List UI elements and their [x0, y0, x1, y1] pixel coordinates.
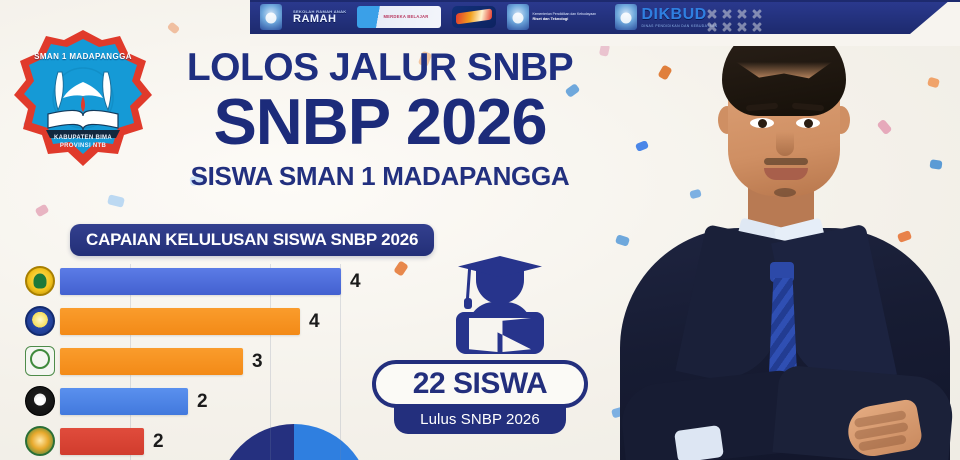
partner-logo-dikbud: DIKBUD DINAS PENDIDIKAN DAN KEBUDAYAAN — [615, 4, 717, 30]
university-crest-unram-icon — [20, 264, 60, 298]
headline-line-3: SISWA SMAN 1 MADAPANGGA — [180, 163, 580, 189]
bar-chart: 4 4 3 2 2 — [20, 264, 420, 460]
headmaster-portrait — [598, 0, 960, 460]
chart-row: 2 — [20, 384, 208, 418]
school-crest-top-text: SMAN 1 MADAPANGGA — [10, 52, 156, 61]
dikbud-crest-icon — [615, 4, 637, 30]
student-count-badge: 22 SISWA — [372, 360, 588, 408]
merdeka-belajar-label: MERDEKA BELAJAR — [357, 14, 428, 19]
x-mark-decoration-icon — [736, 8, 747, 19]
kemendikbudristek-line1: Kementerian Pendidikan dan Kebudayaan — [532, 12, 596, 16]
portrait-pupil-left — [758, 119, 767, 128]
x-mark-decoration-icon — [721, 21, 732, 32]
page-title: LOLOS JALUR SNBP SNBP 2026 SISWA SMAN 1 … — [180, 48, 580, 189]
graduate-cap-book-icon — [450, 252, 550, 360]
school-crest-bottom-text: KABUPATEN BIMA PROVINSI NTB — [10, 134, 156, 150]
sm3t-badge-icon — [452, 6, 496, 28]
chart-bar-value: 4 — [350, 272, 361, 291]
chart-bar — [60, 428, 144, 455]
confetti-piece — [35, 204, 50, 218]
kemendikbudristek-line2: Riset dan Teknologi — [532, 17, 568, 21]
partner-logo-ramah: SEKOLAH RAMAH ANAK RAMAH — [293, 4, 346, 30]
chart-bar — [60, 388, 188, 415]
lulus-sublabel-text: Lulus SNBP 2026 — [420, 411, 540, 428]
dikbud-label: DIKBUD — [641, 6, 706, 23]
lulus-sublabel-bar: Lulus SNBP 2026 — [394, 404, 566, 434]
partner-logo-merdeka-belajar: MERDEKA BELAJAR — [357, 4, 441, 30]
kemendikbudristek-label: Kementerian Pendidikan dan Kebudayaan Ri… — [532, 12, 604, 21]
partner-logos: SEKOLAH RAMAH ANAK RAMAH MERDEKA BELAJAR… — [252, 2, 872, 32]
headline-line-1: LOLOS JALUR SNBP — [180, 48, 580, 87]
x-mark-decoration-icon — [751, 21, 762, 32]
chart-bar — [60, 308, 300, 335]
tut-wuri-handayani-crest-icon — [260, 4, 282, 30]
poster-canvas: SEKOLAH RAMAH ANAK RAMAH MERDEKA BELAJAR… — [0, 0, 960, 460]
chart-bar-value: 4 — [309, 312, 320, 331]
university-crest-uin-alauddin-icon — [20, 344, 60, 378]
chart-bar-value: 2 — [197, 392, 208, 411]
university-crest-undip-icon — [20, 424, 60, 458]
chart-row: 2 — [20, 424, 164, 458]
university-crest-unm-icon — [20, 384, 60, 418]
headline-line-2: SNBP 2026 — [180, 89, 580, 155]
merdeka-belajar-logo-icon: MERDEKA BELAJAR — [357, 6, 441, 28]
portrait-mouth — [764, 168, 808, 180]
school-crest: SMAN 1 MADAPANGGA KABUPATEN BIMA PROVINS… — [10, 26, 156, 176]
student-count-text: 22 SISWA — [413, 367, 547, 401]
portrait-cuff — [674, 425, 724, 460]
portrait-nose — [776, 132, 794, 156]
confetti-piece — [107, 194, 125, 208]
school-crest-district: KABUPATEN BIMA — [54, 135, 112, 141]
chart-row: 4 — [20, 304, 320, 338]
portrait-moustache — [764, 158, 808, 165]
portrait-chin-shadow — [774, 188, 796, 197]
chart-row: 3 — [20, 344, 263, 378]
ramah-wordmark-icon: SEKOLAH RAMAH ANAK RAMAH — [293, 10, 346, 25]
chart-bar — [60, 268, 341, 295]
kemendikbudristek-crest-icon — [507, 4, 529, 30]
school-crest-shape — [10, 26, 156, 176]
chart-title-text: CAPAIAN KELULUSAN SISWA SNBP 2026 — [86, 230, 418, 250]
partner-logo-sm3t — [452, 4, 496, 30]
chart-bar-value: 3 — [252, 352, 263, 371]
ramah-label: RAMAH — [293, 13, 336, 25]
university-crest-umm-icon — [20, 304, 60, 338]
chart-bar-value: 2 — [153, 432, 164, 451]
chart-title-banner: CAPAIAN KELULUSAN SISWA SNBP 2026 — [70, 224, 434, 256]
confetti-piece — [167, 21, 181, 34]
x-mark-decoration-icon — [706, 8, 717, 19]
chart-row: 4 — [20, 264, 361, 298]
portrait-pupil-right — [804, 119, 813, 128]
x-mark-decoration-icon — [736, 21, 747, 32]
chart-bar — [60, 348, 243, 375]
x-mark-decoration-icon — [721, 8, 732, 19]
x-mark-decoration-grid — [706, 8, 766, 34]
partner-logo-kemendikbudristek: Kementerian Pendidikan dan Kebudayaan Ri… — [507, 4, 604, 30]
x-mark-decoration-icon — [706, 21, 717, 32]
x-mark-decoration-icon — [751, 8, 762, 19]
school-crest-province: PROVINSI NTB — [60, 143, 106, 149]
partner-logo-kemdikbud-tut-wuri — [260, 4, 282, 30]
